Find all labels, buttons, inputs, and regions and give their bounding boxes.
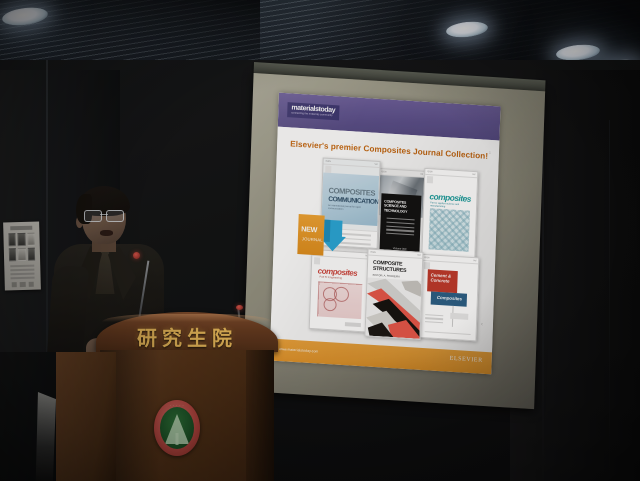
switch-1[interactable] xyxy=(8,233,16,246)
cover-tag xyxy=(450,313,468,320)
journal-cover-collage: ISSNVol COMPOSITES COMMUNICATIONS An int… xyxy=(295,156,480,332)
cover-text-lines xyxy=(425,314,443,325)
presenter-glasses xyxy=(84,210,124,220)
slide-nav-arrow-icon[interactable]: ‹ xyxy=(481,322,483,328)
slide-body: Elsevier's premier Composites Journal Co… xyxy=(270,127,499,353)
cover-title-line3: Composites xyxy=(437,295,462,302)
elsevier-tree-icon xyxy=(314,257,320,264)
panel-switch-row-2[interactable] xyxy=(9,248,35,262)
cover-art xyxy=(317,281,362,319)
journal-cover-cement-and-concrete-composites: ISSNVol Cement & Concrete Composites xyxy=(418,254,479,342)
journal-cover-composite-structures: ISSNVol COMPOSITE STRUCTURES EDITOR: A. … xyxy=(364,248,423,339)
presentation-room-photo: materialstoday connecting the materials … xyxy=(0,0,640,481)
new-journal-badge: NEW JOURNAL xyxy=(297,214,348,257)
emblem-inner-disc xyxy=(160,407,194,449)
lectern-right-shading xyxy=(246,350,274,481)
panel-label xyxy=(10,226,32,231)
switch-3[interactable] xyxy=(27,233,35,246)
switch-6[interactable] xyxy=(27,248,35,261)
switch-2[interactable] xyxy=(18,233,26,246)
swoosh-arrow-icon xyxy=(321,218,346,253)
projection-screen: materialstoday connecting the materials … xyxy=(242,62,545,412)
gooseneck-microphone-left-head xyxy=(133,252,140,259)
wall-control-panel[interactable] xyxy=(3,222,41,291)
cover-topbar: ISSNVol xyxy=(368,249,422,258)
cover-bottom-rule xyxy=(425,331,471,335)
emblem-tree-trunk xyxy=(176,433,179,445)
slide-page-marker: 1 xyxy=(489,150,491,155)
switch-5[interactable] xyxy=(18,248,26,261)
cover-black-panel: COMPOSITES SCIENCE AND TECHNOLOGY Volume… xyxy=(379,193,421,255)
cover-title: COMPOSITES SCIENCE AND TECHNOLOGY xyxy=(384,199,418,214)
cover-title-line2: STRUCTURES xyxy=(373,266,407,274)
presenter-arm xyxy=(47,265,89,359)
lectern: 研究生院 · · · · · xyxy=(96,312,278,481)
elsevier-wordmark: ELSEVIER xyxy=(450,356,483,364)
panel-switch-row-1[interactable] xyxy=(8,233,34,247)
cover-red-block: Cement & Concrete xyxy=(427,269,458,293)
cover-topbar: ISSNVol xyxy=(323,159,379,169)
institution-emblem: · · · · · xyxy=(154,400,200,456)
lectern-top-highlight xyxy=(102,314,272,322)
elsevier-tree-icon xyxy=(427,176,433,183)
panel-indicator-row xyxy=(12,282,34,288)
cover-blue-block: Composites xyxy=(431,291,467,306)
cover-art xyxy=(429,208,470,251)
switch-4[interactable] xyxy=(9,248,17,261)
cover-text-lines xyxy=(386,218,415,239)
cover-topbar: ISSNVol xyxy=(422,255,478,265)
panel-text-lines xyxy=(10,265,34,280)
new-journal-badge-line2: JOURNAL xyxy=(302,236,323,242)
slide-footer-url: www.materialstoday.com xyxy=(279,347,319,353)
emblem-arc-text: · · · · · xyxy=(162,404,192,412)
wall-seam-far-right xyxy=(609,120,610,481)
cover-subtitle: Part B: Engineering xyxy=(319,275,342,279)
cover-art xyxy=(366,277,422,338)
journal-cover-composites-part-b: ISSNVol composites Part B: Engineering xyxy=(309,249,372,333)
gooseneck-microphone-right-head xyxy=(236,305,243,310)
journal-cover-composites-part-a: ISSNVol composites Part A: applied scien… xyxy=(421,168,478,263)
materialstoday-logo: materialstoday connecting the materials … xyxy=(287,102,339,120)
presenter-mouth xyxy=(100,230,113,236)
new-journal-badge-line1: NEW xyxy=(301,224,317,234)
projected-slide: materialstoday connecting the materials … xyxy=(270,93,501,375)
cover-title-lines: Cement & Concrete xyxy=(430,272,451,284)
lectern-sign-text: 研究生院 xyxy=(96,322,278,351)
foreground-wood-edge xyxy=(56,352,116,481)
